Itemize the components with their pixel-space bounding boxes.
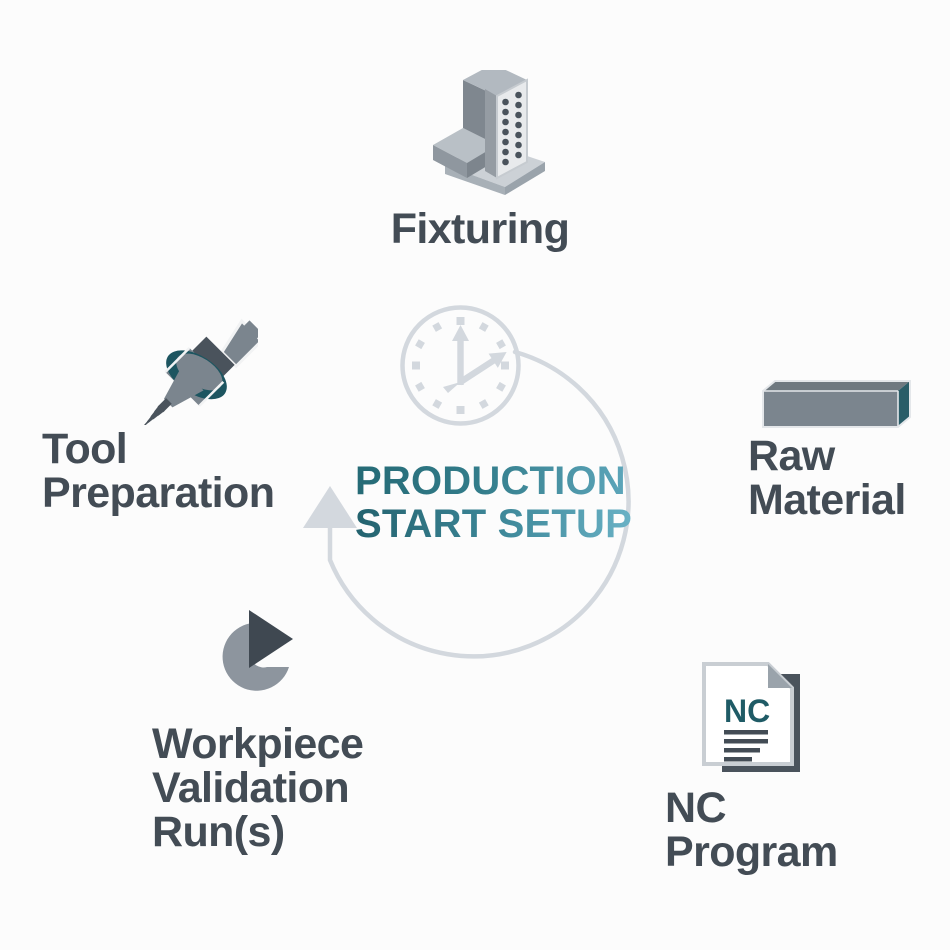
page-title: PRODUCTION START SETUP — [355, 460, 635, 546]
raw-material-label: Raw Material — [748, 435, 950, 523]
nc-program-label: NC Program — [665, 787, 925, 875]
clock-icon — [398, 303, 523, 428]
validation-run-icon — [205, 605, 305, 710]
diagram-canvas: PRODUCTION START SETUP — [0, 0, 950, 950]
nc-document-text: NC — [724, 693, 770, 729]
tool-preparation-label: Tool Preparation — [42, 428, 362, 516]
fixture-plate-icon — [405, 70, 555, 195]
tool-holder-icon — [118, 285, 258, 425]
workpiece-validation-label: Workpiece Validation Run(s) — [152, 723, 452, 855]
title-line-2: START SETUP — [355, 503, 635, 546]
nc-document-icon: NC — [700, 660, 810, 780]
fixturing-label: Fixturing — [345, 208, 615, 252]
metal-bar-icon — [755, 375, 915, 435]
title-line-1: PRODUCTION — [355, 460, 635, 503]
